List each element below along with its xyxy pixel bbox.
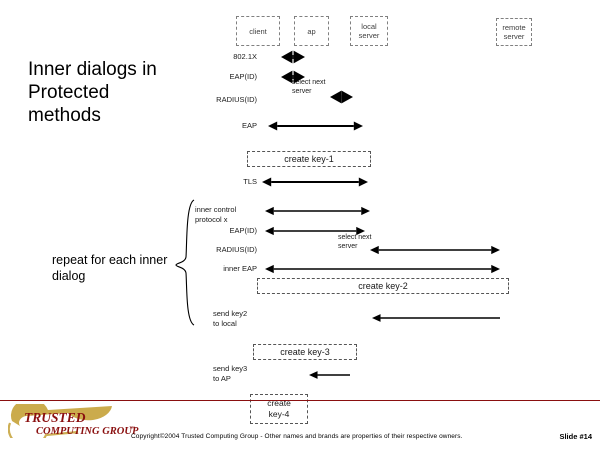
message-label-inner-eap: inner EAP [203, 264, 257, 274]
arrow-802-1x [281, 51, 305, 64]
create-key-box-2: create key-2 [257, 278, 509, 294]
actor-box-client: client [236, 16, 280, 46]
arrow-inner-eap [265, 265, 500, 273]
message-label-802-1x: 802.1X [209, 52, 257, 62]
message-label-send-key3-to-ap: send key3 to AP [213, 364, 257, 383]
slide-number: Slide #14 [559, 432, 592, 441]
trusted-computing-group-logo: TRUSTED COMPUTING GROUP ™ [8, 404, 140, 438]
footer-divider [0, 400, 600, 401]
actor-box-ap: ap [294, 16, 329, 46]
actor-box-local-server: local server [350, 16, 388, 46]
create-key-box-3: create key-3 [253, 344, 357, 360]
arrow-send-key2 [372, 314, 500, 322]
arrow-send-key3 [309, 371, 350, 379]
page-title: Inner dialogs in Protected methods [28, 58, 178, 127]
message-label-tls: TLS [209, 177, 257, 187]
message-label-eap-id: EAP(ID) [209, 226, 257, 236]
message-label-inner-control-protocol-x: inner control protocol x [195, 205, 257, 224]
logo-text-trusted: TRUSTED [24, 410, 86, 425]
repeat-note-label: repeat for each inner dialog [52, 252, 192, 284]
create-key-box-1: create key-1 [247, 151, 371, 167]
logo-text-computing-group: COMPUTING GROUP [36, 426, 139, 437]
arrow-inner-control [265, 207, 370, 215]
arrow-tls [262, 178, 368, 187]
arrow-eap [268, 122, 363, 131]
arrow-radius-id [330, 91, 353, 104]
message-label-eap: EAP [209, 121, 257, 131]
note-select-next-server-2: select next server [338, 233, 371, 251]
actor-box-remote-server: remote server [496, 18, 532, 46]
message-label-radius-id: RADIUS(ID) [201, 245, 257, 255]
message-label-radius-id: RADIUS(ID) [201, 95, 257, 105]
message-label-send-key2-to-local: send key2 to local [213, 309, 257, 328]
logo-trademark-icon: ™ [129, 426, 135, 432]
copyright-text: Copyright©2004 Trusted Computing Group -… [131, 433, 463, 440]
arrow-inner-radius-id [370, 246, 500, 254]
note-select-next-server-1: select next server [292, 78, 325, 96]
create-key-box-4: create key-4 [250, 394, 308, 424]
message-label-eap-id: EAP(ID) [209, 72, 257, 82]
slide-canvas: Inner dialogs in Protected methods repea… [0, 0, 600, 450]
